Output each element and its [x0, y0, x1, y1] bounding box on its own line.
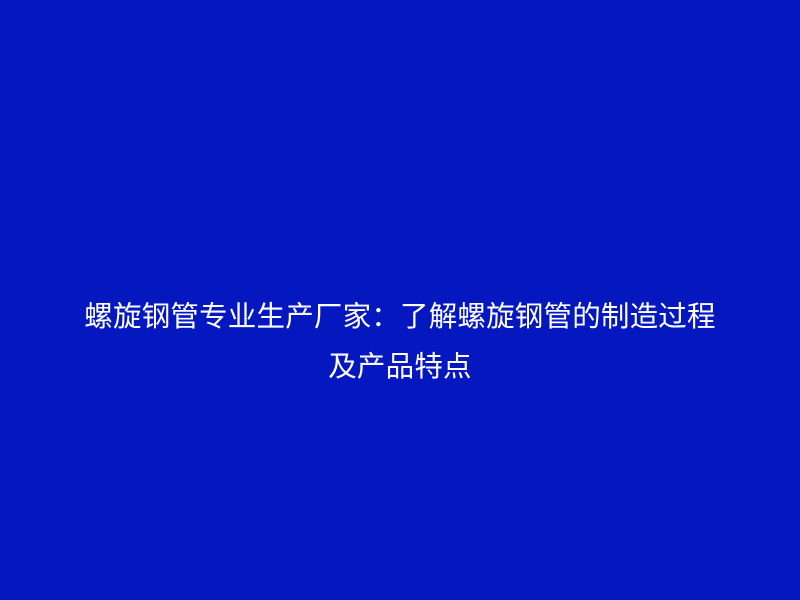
- page-title: 螺旋钢管专业生产厂家：了解螺旋钢管的制造过程 及产品特点: [44, 292, 756, 392]
- page-title-line-1: 螺旋钢管专业生产厂家：了解螺旋钢管的制造过程: [44, 292, 756, 342]
- slide-canvas: 螺旋钢管专业生产厂家：了解螺旋钢管的制造过程 及产品特点: [0, 0, 800, 600]
- page-title-line-2: 及产品特点: [44, 342, 756, 392]
